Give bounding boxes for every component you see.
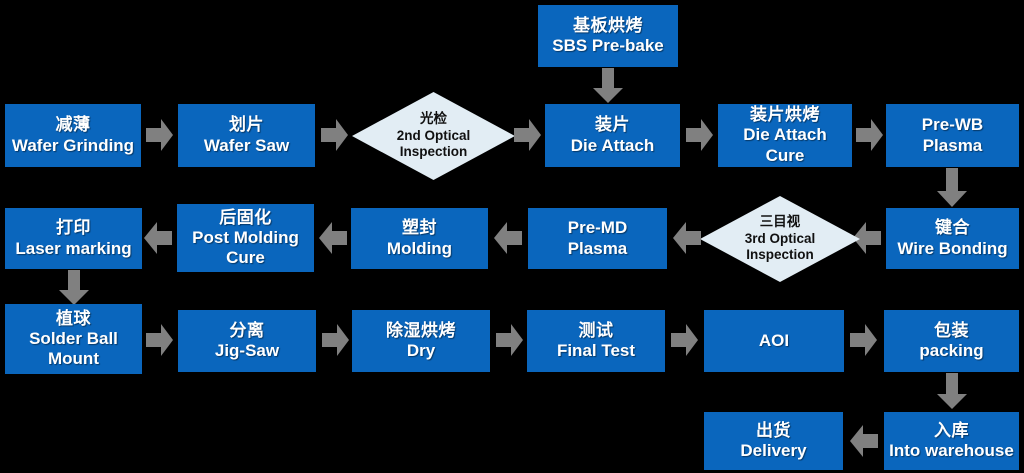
node-label-en: Wafer Grinding [12, 136, 134, 156]
node-pre-wb-plasma: Pre-WB Plasma [886, 104, 1019, 167]
node-pre-md-plasma: Pre-MD Plasma [528, 208, 667, 269]
arrow-right-grinding-to-saw [146, 118, 174, 152]
node-label-cn: 减薄 [56, 115, 91, 135]
node-label-cn: 入库 [934, 421, 969, 441]
node-label-cn: 键合 [935, 218, 970, 238]
node-label-en-line1: 3rd Optical [745, 231, 816, 248]
node-label-en: Dry [407, 341, 435, 361]
arrow-left-molding-to-postmoldingcure [318, 221, 348, 255]
node-label-en: packing [919, 341, 983, 361]
node-label-en: Wire Bonding [897, 239, 1007, 259]
node-label-en-line1: Pre-WB [922, 115, 983, 135]
node-label-en: Molding [387, 239, 452, 259]
node-label-cn: 光检 [397, 111, 471, 128]
node-label-cn: 三目视 [745, 214, 816, 231]
node-label-cn: 包装 [934, 321, 969, 341]
node-label-cn: 分离 [230, 321, 265, 341]
arrow-down-prewb-to-wirebonding [936, 168, 968, 208]
node-laser-marking: 打印 Laser marking [5, 208, 142, 269]
process-flow-diagram: 基板烘烤 SBS Pre-bake 减薄 Wafer Grinding 划片 W… [0, 0, 1024, 473]
decision-label: 三目视 3rd Optical Inspection [745, 214, 816, 265]
arrow-left-premd-to-molding [493, 221, 523, 255]
node-wire-bonding: 键合 Wire Bonding [886, 208, 1019, 269]
node-label-en: AOI [759, 331, 789, 351]
arrow-right-cure-to-prewb [856, 118, 884, 152]
arrow-right-solderball-to-jigsaw [146, 323, 174, 357]
node-label-cn: 装片 [595, 115, 630, 135]
node-3rd-optical-inspection: 三目视 3rd Optical Inspection [700, 196, 860, 282]
node-label-cn: 后固化 [219, 208, 272, 228]
node-label-en-line1: Pre-MD [568, 218, 628, 238]
node-label-cn: 装片烘烤 [750, 105, 820, 125]
node-into-warehouse: 入库 Into warehouse [884, 412, 1019, 470]
node-die-attach-cure: 装片烘烤 Die Attach Cure [718, 104, 852, 167]
decision-label: 光检 2nd Optical Inspection [397, 111, 471, 162]
node-label-cn: 植球 [56, 309, 91, 329]
node-2nd-optical-inspection: 光检 2nd Optical Inspection [352, 92, 515, 180]
node-aoi: AOI [704, 310, 844, 372]
arrow-left-optical3-to-premd [672, 221, 702, 255]
node-label-cn: 打印 [56, 218, 91, 238]
node-dry: 除湿烘烤 Dry [352, 310, 490, 372]
node-wafer-grinding: 减薄 Wafer Grinding [5, 104, 141, 167]
node-label-en: Die Attach [571, 136, 654, 156]
node-label-en-line2: Mount [48, 349, 99, 369]
node-label-en: Laser marking [15, 239, 131, 259]
arrow-down-lasermarking-to-solderball [58, 270, 90, 306]
node-label-en-line2: Inspection [745, 247, 816, 264]
node-label-en-line2: Inspection [397, 144, 471, 161]
node-wafer-saw: 划片 Wafer Saw [178, 104, 315, 167]
arrow-down-prebake-to-dieattach [592, 68, 624, 104]
node-delivery: 出货 Delivery [704, 412, 843, 470]
node-label-en-line1: 2nd Optical [397, 128, 471, 145]
node-label-en-line2: Cure [226, 248, 265, 268]
node-post-molding-cure: 后固化 Post Molding Cure [177, 204, 314, 272]
node-final-test: 测试 Final Test [527, 310, 665, 372]
node-die-attach: 装片 Die Attach [545, 104, 680, 167]
arrow-right-finaltest-to-aoi [671, 323, 699, 357]
node-label-en-line2: Plasma [568, 239, 628, 259]
node-packing: 包装 packing [884, 310, 1019, 372]
node-label-en: SBS Pre-bake [552, 36, 664, 56]
node-label-en: Wafer Saw [204, 136, 289, 156]
arrow-right-saw-to-optical2 [321, 118, 349, 152]
node-label-cn: 基板烘烤 [573, 16, 643, 36]
node-solder-ball-mount: 植球 Solder Ball Mount [5, 304, 142, 374]
node-sbs-pre-bake: 基板烘烤 SBS Pre-bake [538, 5, 678, 67]
node-label-cn: 出货 [756, 421, 791, 441]
arrow-right-jigsaw-to-dry [322, 323, 350, 357]
node-label-cn: 测试 [579, 321, 614, 341]
arrow-right-dry-to-finaltest [496, 323, 524, 357]
node-label-en: Die Attach Cure [722, 125, 848, 165]
node-molding: 塑封 Molding [351, 208, 488, 269]
arrow-down-packing-to-warehouse [936, 373, 968, 410]
node-label-en: Jig-Saw [215, 341, 279, 361]
arrow-right-aoi-to-packing [850, 323, 878, 357]
node-label-cn: 除湿烘烤 [386, 321, 456, 341]
arrow-left-warehouse-to-delivery [849, 424, 879, 458]
node-label-en: Delivery [740, 441, 806, 461]
node-jig-saw: 分离 Jig-Saw [178, 310, 316, 372]
arrow-right-dieattach-to-cure [686, 118, 714, 152]
node-label-en: Final Test [557, 341, 635, 361]
node-label-en-line2: Plasma [923, 136, 983, 156]
arrow-left-postmoldingcure-to-lasermarking [143, 221, 173, 255]
node-label-en: Into warehouse [889, 441, 1014, 461]
node-label-en-line1: Post Molding [192, 228, 299, 248]
node-label-cn: 塑封 [402, 218, 437, 238]
node-label-cn: 划片 [229, 115, 264, 135]
node-label-en-line1: Solder Ball [29, 329, 118, 349]
arrow-right-optical2-to-dieattach [514, 118, 542, 152]
